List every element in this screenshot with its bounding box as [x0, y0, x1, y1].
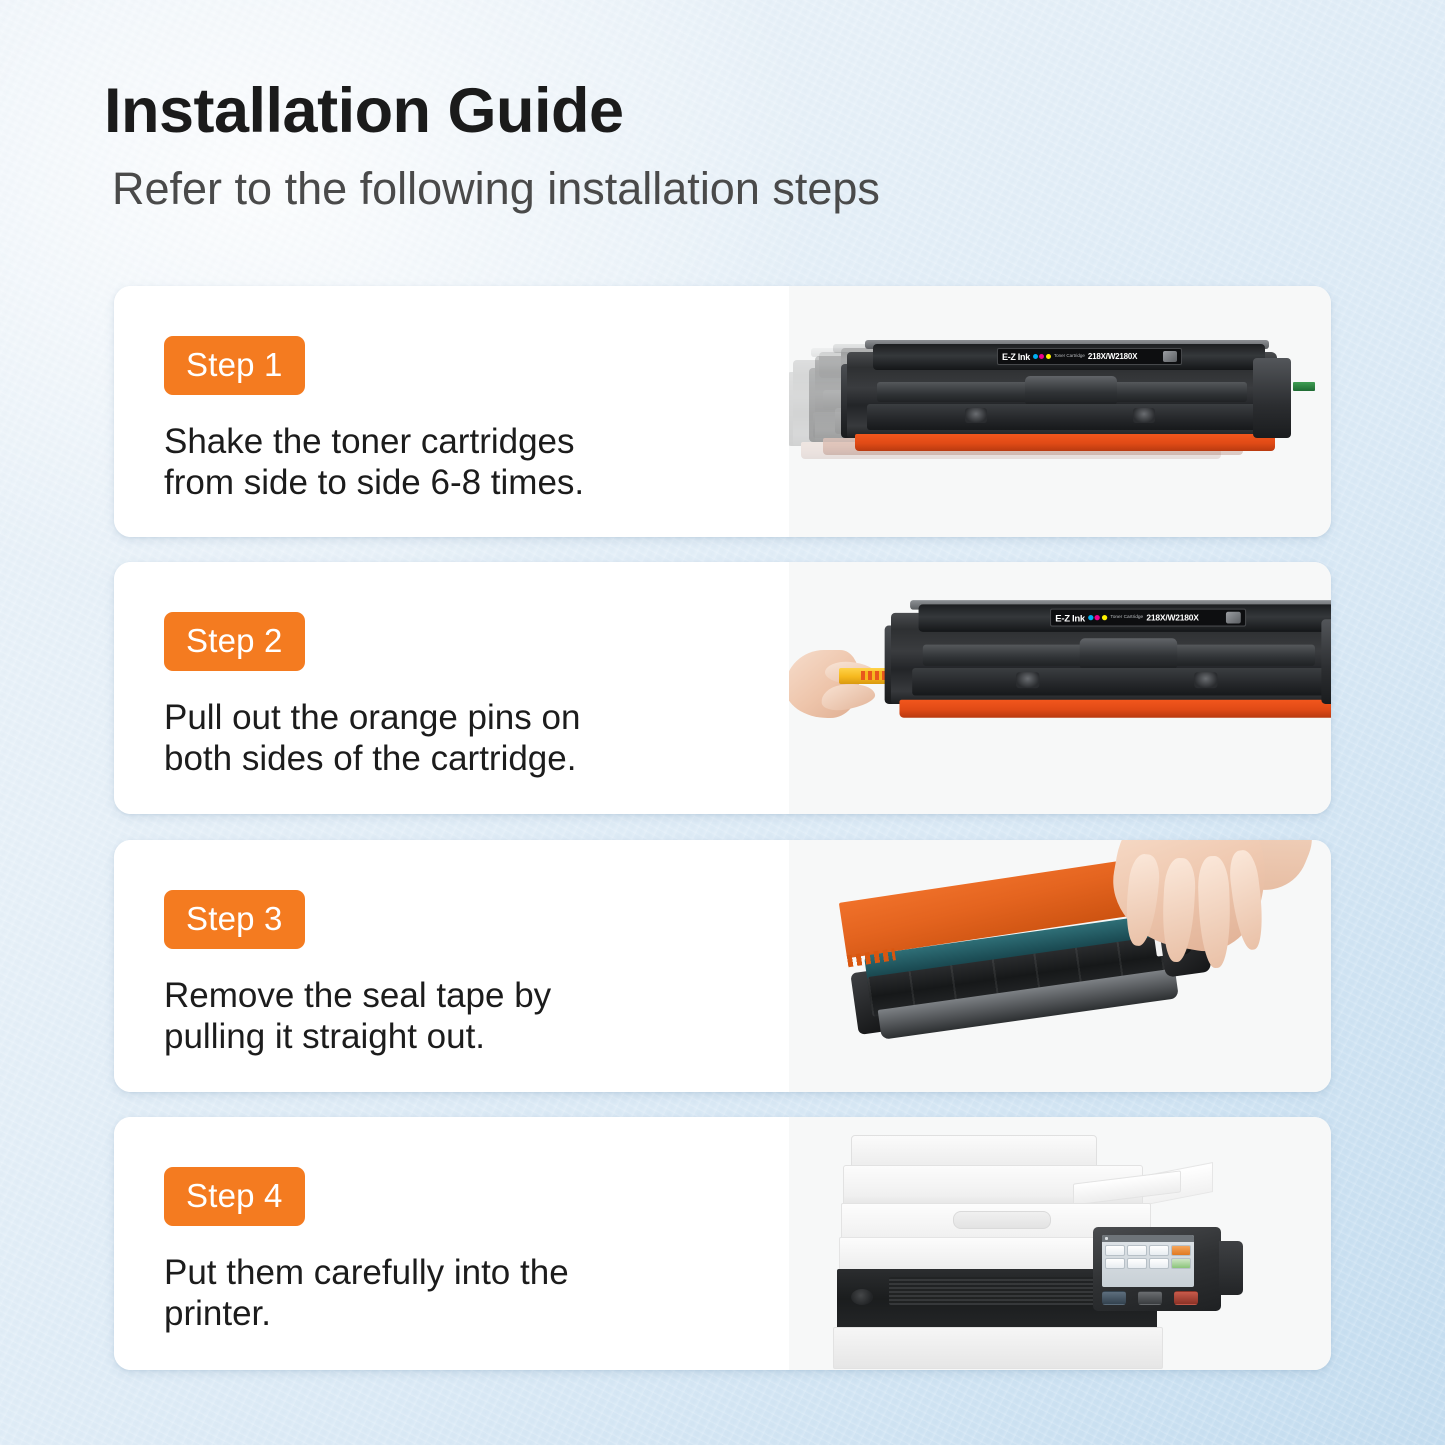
screen-tile-usb — [1149, 1258, 1169, 1269]
step-4-text-panel: Step 4 Put them carefully into the print… — [114, 1117, 789, 1370]
screen-tile-copy — [1105, 1245, 1125, 1256]
screen-tile-supplies — [1171, 1245, 1191, 1256]
screen-tile-scan — [1149, 1245, 1169, 1256]
step-2-text-panel: Step 2 Pull out the orange pins on both … — [114, 562, 789, 814]
screen-tile-apps — [1105, 1258, 1125, 1269]
cmyk-dots-icon — [1088, 615, 1107, 620]
step-2-description: Pull out the orange pins on both sides o… — [164, 698, 724, 780]
cartridge-brand: E-Z Ink — [1002, 352, 1030, 362]
page-title: Installation Guide — [104, 78, 1304, 144]
step-card-4: Step 4 Put them carefully into the print… — [114, 1117, 1331, 1370]
page-subtitle: Refer to the following installation step… — [112, 164, 1304, 214]
cartridge-model: 218X/W2180X — [1088, 352, 1137, 361]
step-3-text-panel: Step 3 Remove the seal tape by pulling i… — [114, 840, 789, 1092]
installation-guide-page: Installation Guide Refer to the followin… — [0, 0, 1445, 1445]
step-1-badge: Step 1 — [164, 336, 305, 395]
cartridge-label: E-Z Ink Toner Cartridge 218X/W2180X — [1050, 609, 1246, 627]
screen-tile-setup — [1171, 1258, 1191, 1269]
cartridge-label-sub: Toner Cartridge — [1054, 354, 1085, 359]
settings-button[interactable] — [1138, 1291, 1162, 1305]
step-4-image — [789, 1117, 1331, 1370]
step-2-badge: Step 2 — [164, 612, 305, 671]
printer-touchscreen — [1102, 1235, 1194, 1287]
step-4-badge: Step 4 — [164, 1167, 305, 1226]
paper-output-slot — [889, 1277, 1117, 1305]
cartridge-model: 218X/W2180X — [1146, 613, 1198, 623]
cartridge-label-sub: Toner Cartridge — [1110, 615, 1143, 620]
screen-tile-fax — [1127, 1245, 1147, 1256]
chip-icon — [1163, 351, 1177, 362]
step-1-text-panel: Step 1 Shake the toner cartridges from s… — [114, 286, 789, 537]
toner-cartridge: E-Z Ink Toner Cartridge 218X/W2180X — [847, 338, 1317, 458]
printer-control-panel — [1093, 1227, 1221, 1311]
step-3-description: Remove the seal tape by pulling it strai… — [164, 976, 724, 1058]
scanner-handle — [953, 1211, 1051, 1229]
cartridge-brand: E-Z Ink — [1055, 612, 1085, 623]
step-1-image: E-Z Ink Toner Cartridge 218X/W2180X — [789, 286, 1331, 537]
laser-printer — [823, 1131, 1253, 1369]
power-icon — [851, 1289, 873, 1305]
cmyk-dots-icon — [1033, 354, 1051, 359]
step-3-image — [789, 840, 1331, 1092]
cancel-button[interactable] — [1174, 1291, 1198, 1305]
step-1-description: Shake the toner cartridges from side to … — [164, 422, 724, 504]
control-panel-buttons — [1102, 1291, 1198, 1305]
step-3-badge: Step 3 — [164, 890, 305, 949]
step-2-image: E-Z Ink Toner Cartridge 218X/W2180X — [789, 562, 1331, 814]
step-card-2: Step 2 Pull out the orange pins on both … — [114, 562, 1331, 814]
toner-cartridge: E-Z Ink Toner Cartridge 218X/W2180X — [891, 598, 1331, 725]
header: Installation Guide Refer to the followin… — [104, 78, 1304, 214]
chip-icon — [1226, 612, 1241, 624]
cartridge-label: E-Z Ink Toner Cartridge 218X/W2180X — [997, 348, 1182, 365]
step-card-3: Step 3 Remove the seal tape by pulling i… — [114, 840, 1331, 1092]
screen-tile-print — [1127, 1258, 1147, 1269]
step-card-1: Step 1 Shake the toner cartridges from s… — [114, 286, 1331, 537]
power-button[interactable] — [1102, 1291, 1126, 1305]
step-4-description: Put them carefully into the printer. — [164, 1253, 724, 1335]
hand-icon — [1071, 840, 1281, 1018]
